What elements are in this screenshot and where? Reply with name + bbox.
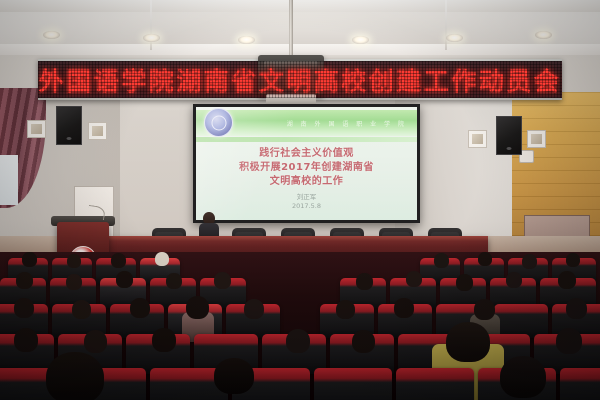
audience-head-foreground xyxy=(214,358,254,394)
audience-head xyxy=(434,253,449,268)
audience-seat xyxy=(314,368,392,400)
slide-date: 2017.5.8 xyxy=(196,202,417,211)
projection-screen: 湖 南 外 国 语 职 业 学 院 践行社会主义价值观 积极开展2017年创建湖… xyxy=(196,107,417,220)
audience-head xyxy=(336,300,355,319)
downlight xyxy=(238,36,255,44)
university-logo-icon xyxy=(204,108,233,137)
audience-head xyxy=(166,273,182,289)
wall-plaque xyxy=(527,130,546,148)
wall-speaker-left xyxy=(56,106,82,145)
audience-head xyxy=(406,271,422,287)
audience-head xyxy=(474,299,495,320)
audience-seat xyxy=(560,368,600,400)
audience-head xyxy=(16,272,33,289)
audience-head xyxy=(130,298,150,318)
audience-head xyxy=(72,300,91,319)
wall-plaque xyxy=(468,130,487,148)
audience-head xyxy=(244,299,264,319)
slide-line-1: 践行社会主义价值观 xyxy=(196,147,417,161)
downlight xyxy=(446,34,463,42)
ceiling xyxy=(0,0,600,58)
audience-head xyxy=(14,328,38,352)
audience-head-foreground xyxy=(46,352,104,400)
slide-body: 践行社会主义价值观 积极开展2017年创建湖南省 文明高校的工作 xyxy=(196,147,417,189)
downlight xyxy=(535,31,552,39)
downlight xyxy=(43,31,60,39)
audience-head xyxy=(446,322,490,362)
led-banner: 外国语学院湖南省文明高校创建工作动员会 xyxy=(38,59,562,100)
audience-head xyxy=(286,329,310,353)
audience-head xyxy=(214,272,231,289)
audience-head xyxy=(22,252,37,267)
projection-screen-frame: 湖 南 外 国 语 职 业 学 院 践行社会主义价值观 积极开展2017年创建湖… xyxy=(193,104,420,223)
slide-presenter-name: 刘正军 xyxy=(196,193,417,202)
audience-head xyxy=(67,254,81,268)
audience-head xyxy=(14,298,34,318)
ceiling-beam xyxy=(150,0,152,50)
wall-plaque xyxy=(27,120,46,138)
ceiling-slant-left xyxy=(0,8,250,48)
seated-audience xyxy=(0,252,600,400)
ceiling-beam xyxy=(445,0,447,50)
audience-seat xyxy=(396,368,474,400)
audience-head xyxy=(478,252,492,266)
downlight xyxy=(143,34,160,42)
ceiling-slant-right xyxy=(350,8,600,48)
audience-head xyxy=(394,298,414,318)
audience-head xyxy=(111,253,126,268)
slide-footer: 刘正军 2017.5.8 xyxy=(196,193,417,211)
audience-head xyxy=(506,272,522,288)
audience-head xyxy=(84,330,107,353)
audience-seat xyxy=(494,304,548,338)
audience-head xyxy=(556,328,582,354)
audience-head xyxy=(456,274,473,291)
audience-head xyxy=(186,296,209,319)
wall-plaque xyxy=(88,122,107,140)
window-strip xyxy=(0,155,18,205)
audience-head xyxy=(152,328,176,352)
slide-line-3: 文明高校的工作 xyxy=(196,175,417,189)
downlight xyxy=(352,36,369,44)
audience-head xyxy=(522,254,537,269)
auditorium-photo: 外国语学院湖南省文明高校创建工作动员会 湖 南 外 国 语 职 业 学 院 践行… xyxy=(0,0,600,400)
audience-head xyxy=(566,298,587,319)
wall-speaker-right xyxy=(496,116,522,155)
audience-head-foreground xyxy=(500,356,546,398)
audience-head xyxy=(566,253,580,267)
audience-head xyxy=(558,271,576,289)
banner-text: 外国语学院湖南省文明高校创建工作动员会 xyxy=(38,61,562,98)
ceiling-soffit xyxy=(0,0,600,12)
projector-mount-pole xyxy=(289,0,293,56)
slide-header-text: 湖 南 外 国 语 职 业 学 院 xyxy=(287,119,407,128)
audience-head xyxy=(356,273,373,290)
slide-header-accent xyxy=(196,137,417,142)
audience-head xyxy=(352,330,375,353)
slide-line-2: 积极开展2017年创建湖南省 xyxy=(196,161,417,175)
audience-head xyxy=(155,252,169,266)
audience-head xyxy=(116,271,133,288)
audience-head xyxy=(66,274,82,290)
